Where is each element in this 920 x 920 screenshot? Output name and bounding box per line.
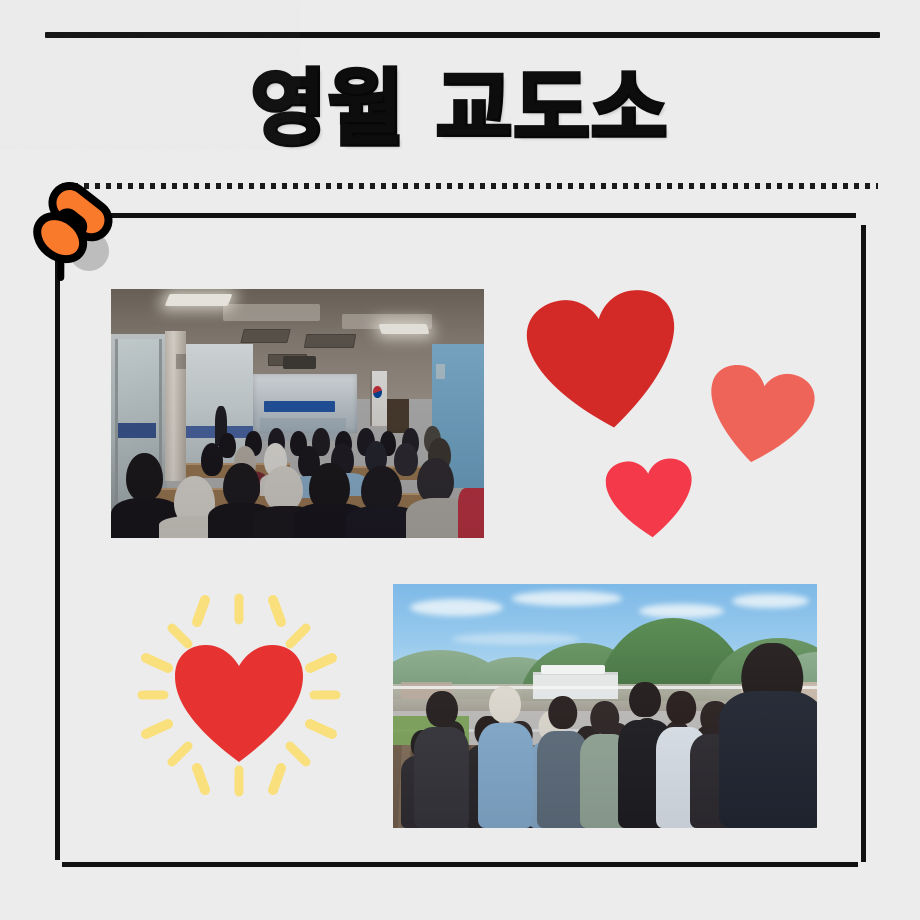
heart-large (522, 283, 688, 442)
frame-bottom-edge (62, 862, 858, 867)
sparkle-heart-icon (128, 584, 350, 806)
photo-lecture-hall-scene (111, 289, 484, 538)
top-rule (45, 32, 880, 38)
frame-left-edge (55, 250, 60, 860)
photo-outdoor-group (393, 584, 817, 828)
photo-lecture-hall (111, 289, 484, 538)
frame-right-edge (861, 225, 866, 862)
heart-medium (699, 360, 818, 475)
frame-top-edge (93, 213, 856, 218)
page-title: 영월 교도소 (0, 58, 920, 162)
photo-outdoor-group-scene (393, 584, 817, 828)
pushpin-icon (18, 178, 128, 288)
heart-small (604, 456, 695, 543)
dotted-divider (62, 183, 878, 189)
poster-canvas: 영월 교도소 (0, 0, 920, 920)
